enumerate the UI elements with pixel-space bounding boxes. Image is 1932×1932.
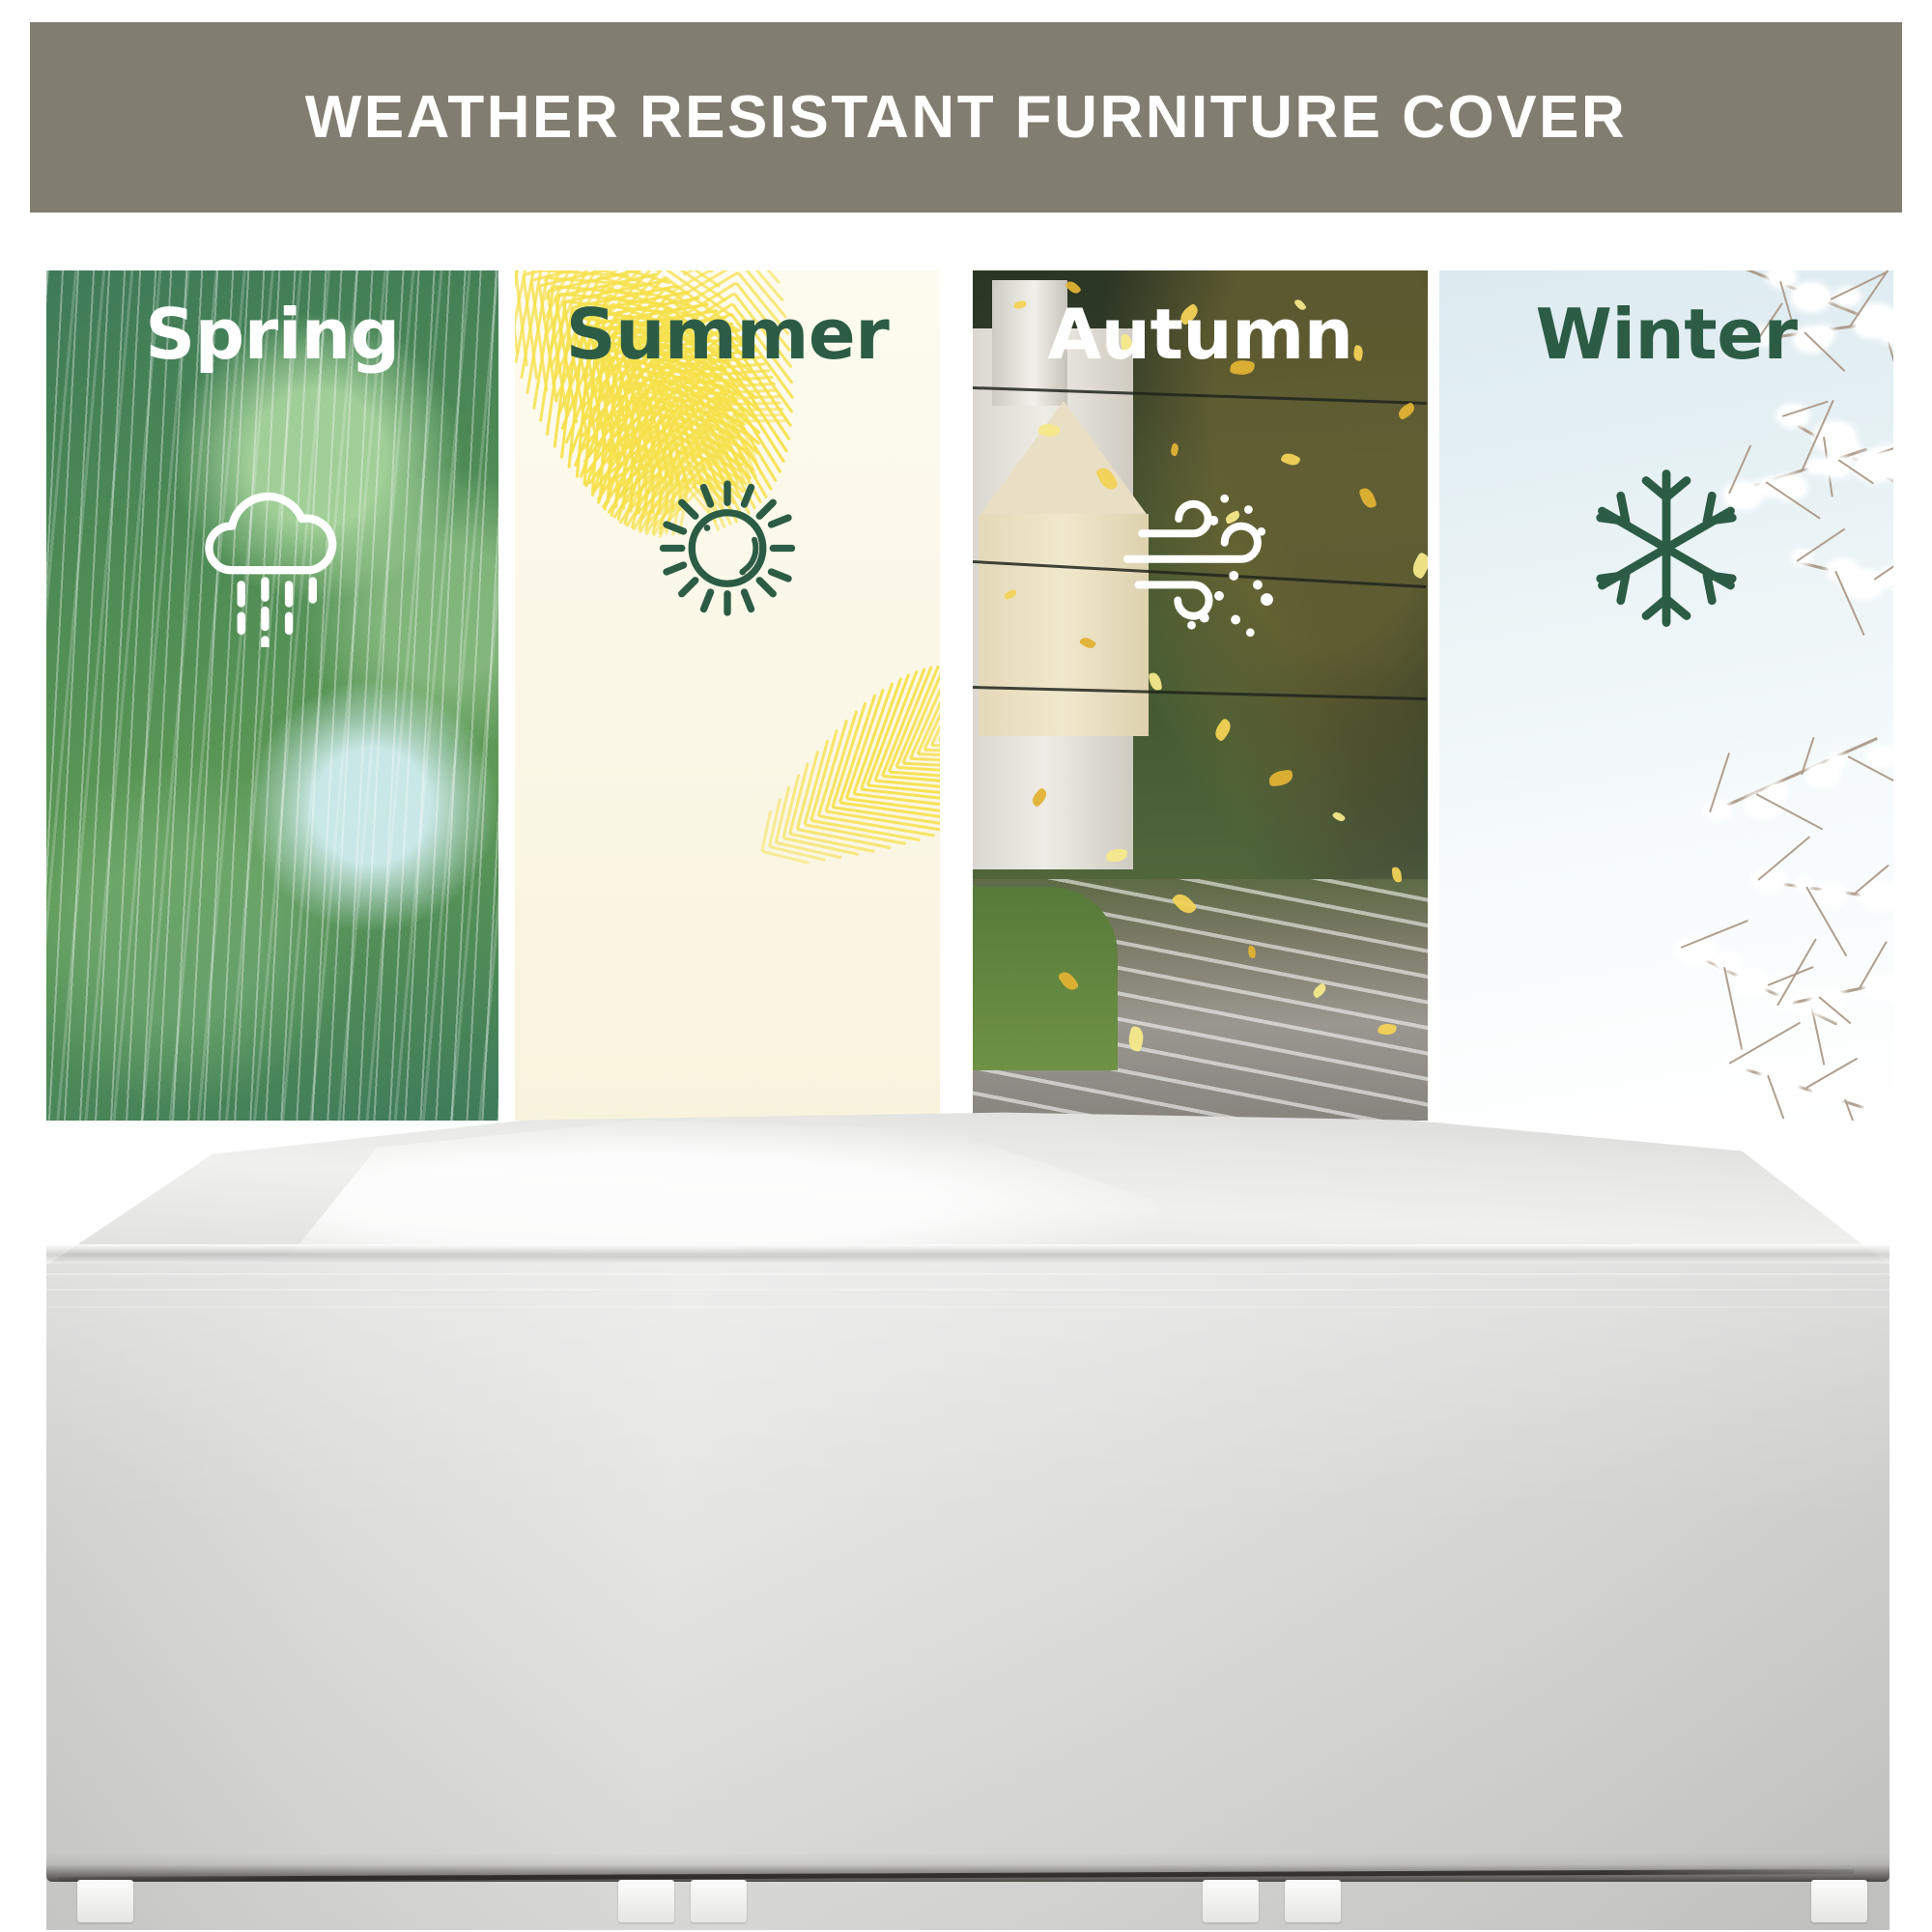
palm-frond-blade — [860, 677, 902, 790]
palm-frond-blade — [587, 270, 661, 272]
palm-frond-blade — [776, 841, 842, 860]
palm-frond-blade — [931, 744, 940, 748]
sun-icon — [643, 464, 812, 638]
snow-clump — [1822, 457, 1850, 476]
palm-frond-blade — [539, 270, 632, 287]
palm-frond-blade — [675, 385, 757, 463]
palm-frond-blade — [599, 356, 611, 498]
palm-frond-blade — [682, 270, 744, 276]
palm-frond-blade — [590, 358, 638, 496]
snow-clump — [1829, 991, 1844, 1002]
palm-frond-blade — [692, 383, 776, 390]
palm-frond-blade — [699, 388, 778, 395]
palm-frond-blade — [614, 373, 622, 508]
palm-frond-blade — [673, 366, 760, 445]
palm-frond-blade — [810, 729, 839, 821]
palm-frond-blade — [676, 396, 754, 472]
palm-frond-blade — [633, 387, 730, 412]
palm-frond-blade — [831, 702, 867, 808]
palm-frond-blade — [622, 381, 629, 511]
falling-leaf — [1409, 552, 1428, 580]
palm-frond-blade — [839, 802, 940, 823]
palm-frond-blade — [638, 396, 641, 514]
palm-frond-blade — [896, 766, 940, 777]
palm-frond-blade — [804, 823, 906, 845]
palm-frond-blade — [656, 404, 746, 451]
falling-leaf — [1149, 671, 1163, 691]
palm-frond-blade — [591, 270, 670, 284]
palm-frond-blade — [797, 828, 892, 849]
palm-frond-blade — [515, 270, 591, 271]
furniture-cover — [0, 1101, 1932, 1932]
palm-frond-blade — [608, 384, 719, 475]
palm-frond-blade — [719, 375, 781, 473]
palm-frond-blade — [924, 749, 940, 753]
palm-frond-blade — [923, 669, 940, 751]
palm-frond-blade — [660, 412, 745, 459]
palm-frond-blade — [674, 376, 759, 454]
palm-frond-blade — [775, 786, 790, 843]
palm-frond-blade — [889, 771, 940, 783]
palm-frond-blade — [531, 270, 618, 282]
palm-frond-blade — [861, 788, 940, 807]
palm-frond-blade — [930, 671, 940, 746]
autumn-lawn — [973, 887, 1118, 1070]
palm-frond-blade — [909, 666, 940, 759]
palm-frond-blade — [595, 270, 680, 297]
snow-clump — [1829, 755, 1845, 767]
palm-frond-blade — [671, 270, 742, 293]
snow-clump — [1868, 748, 1893, 767]
snow-clump — [1776, 1076, 1799, 1092]
palm-frond-blade — [547, 270, 643, 293]
palm-frond-blade — [621, 371, 727, 396]
palm-frond-blade — [645, 403, 731, 427]
palm-frond-blade — [627, 379, 729, 404]
palm-frond-blade — [838, 695, 876, 804]
snowy-branch — [1831, 270, 1889, 300]
palm-frond-blade — [731, 413, 784, 417]
palm-frond-blade — [845, 688, 885, 799]
cover-fold-line — [46, 1273, 1889, 1275]
palm-frond-blade — [895, 666, 939, 768]
snow-clump — [1767, 784, 1787, 799]
palm-frond-blade — [937, 674, 940, 742]
palm-frond-blade — [660, 270, 714, 273]
palm-frond-blade — [644, 376, 746, 426]
palm-frond-blade — [817, 720, 848, 817]
palm-frond-blade — [888, 666, 933, 772]
palm-frond-blade — [825, 810, 940, 833]
palm-frond-blade — [824, 710, 858, 811]
palm-frond-blade — [606, 364, 723, 454]
palm-frond-blade — [651, 411, 731, 435]
palm-frond-blade — [782, 837, 859, 856]
snow-clump — [1735, 970, 1769, 994]
palm-frond-blade — [543, 270, 577, 283]
palm-frond-blade — [867, 673, 910, 786]
falling-leaf — [1169, 442, 1180, 456]
season-label-summer: Summer — [515, 299, 940, 369]
palm-frond-blade — [607, 374, 722, 465]
season-label-autumn: Autumn — [973, 299, 1428, 369]
furniture-leg — [1285, 1880, 1341, 1922]
palm-frond-blade — [846, 797, 940, 817]
season-label-spring: Spring — [46, 299, 498, 369]
palm-frond-blade — [740, 419, 786, 422]
palm-frond-blade — [768, 798, 781, 847]
palm-frond-blade — [939, 740, 940, 743]
palm-frond-blade — [541, 270, 630, 277]
palm-frond-blade — [610, 270, 660, 276]
snowy-branch — [1757, 836, 1810, 881]
season-panel-autumn: Autumn — [973, 270, 1428, 1121]
palm-frond-blade — [903, 761, 940, 771]
palm-frond-blade — [790, 833, 876, 853]
palm-frond-blade — [603, 377, 645, 510]
falling-leaf — [1332, 810, 1347, 824]
snow-clump — [1716, 953, 1739, 970]
palm-frond-blade — [607, 365, 616, 504]
palm-frond-blade — [664, 426, 730, 448]
palm-frond-blade — [852, 682, 894, 794]
snowy-branch — [1796, 528, 1845, 562]
palm-frond-blade — [665, 422, 744, 467]
palm-frond-blade — [811, 819, 922, 841]
palm-frond-blade — [658, 418, 731, 441]
season-panel-summer: Summer — [515, 270, 940, 1121]
palm-frond-blade — [597, 368, 642, 504]
palm-frond-blade — [547, 276, 640, 286]
furniture-leg — [1203, 1880, 1259, 1922]
palm-frond-blade — [902, 666, 940, 764]
palm-frond-blade — [875, 780, 940, 795]
palm-frond-blade — [716, 402, 781, 407]
falling-leaf — [1211, 718, 1234, 742]
palm-frond-blade — [708, 395, 781, 401]
palm-frond-blade — [781, 774, 800, 838]
cover-shading — [46, 1264, 1889, 1930]
palm-frond-blade — [524, 270, 606, 276]
palm-frond-blade — [910, 757, 940, 765]
snowy-branch — [1709, 737, 1878, 814]
palm-frond-blade — [918, 753, 940, 759]
falling-leaf — [1268, 770, 1293, 787]
palm-frond-blade — [684, 376, 773, 384]
furniture-leg — [77, 1880, 133, 1922]
snow-clump — [1774, 476, 1805, 498]
palm-frond-blade — [669, 435, 729, 455]
palm-frond-blade — [796, 751, 819, 830]
palm-frond-blade — [661, 270, 721, 288]
palm-frond-blade — [873, 669, 918, 781]
cover-fold-line — [46, 1306, 1889, 1308]
palm-frond-blade — [761, 850, 809, 865]
palm-frond-blade — [676, 442, 728, 462]
furniture-leg — [691, 1880, 747, 1922]
palm-frond-blade — [760, 810, 772, 851]
palm-frond-blade — [743, 270, 781, 284]
palm-frond-blade — [652, 394, 747, 443]
snowy-branch — [1681, 920, 1748, 949]
season-panel-spring: Spring — [46, 270, 498, 1121]
palm-frond-blade — [833, 806, 940, 828]
palm-frond-blade — [769, 845, 826, 862]
furniture-leg — [1811, 1880, 1867, 1922]
falling-leaf — [1358, 486, 1378, 510]
cover-side-panel — [46, 1264, 1889, 1930]
snow-clump — [1807, 764, 1838, 785]
palm-frond-blade — [854, 792, 940, 811]
season-label-winter: Winter — [1439, 299, 1893, 369]
palm-frond-blade — [818, 814, 935, 837]
palm-frond-blade — [721, 364, 785, 464]
wind-icon — [1109, 464, 1293, 652]
palm-frond-blade — [882, 775, 940, 788]
palm-frond-blade — [789, 762, 810, 835]
palm-frond-blade — [605, 270, 662, 294]
palm-frond-blade — [724, 408, 783, 412]
palm-frond-blade — [803, 739, 829, 825]
season-panel-winter: Winter — [1439, 270, 1893, 1121]
snow-clump — [1819, 886, 1846, 905]
cover-fold-line — [46, 1289, 1889, 1291]
palm-frond-blade — [881, 668, 926, 777]
palm-frond-blade — [916, 668, 940, 755]
palm-frond-blade — [867, 783, 940, 800]
palm-frond-blade — [639, 395, 731, 420]
palm-frond-blade — [630, 388, 635, 513]
palm-frond-blade — [648, 385, 747, 435]
falling-leaf — [1396, 402, 1417, 420]
furniture-leg — [618, 1880, 674, 1922]
snow-clump — [1796, 878, 1812, 890]
rain-cloud-icon — [181, 464, 364, 652]
snowflake-icon — [1582, 464, 1751, 638]
